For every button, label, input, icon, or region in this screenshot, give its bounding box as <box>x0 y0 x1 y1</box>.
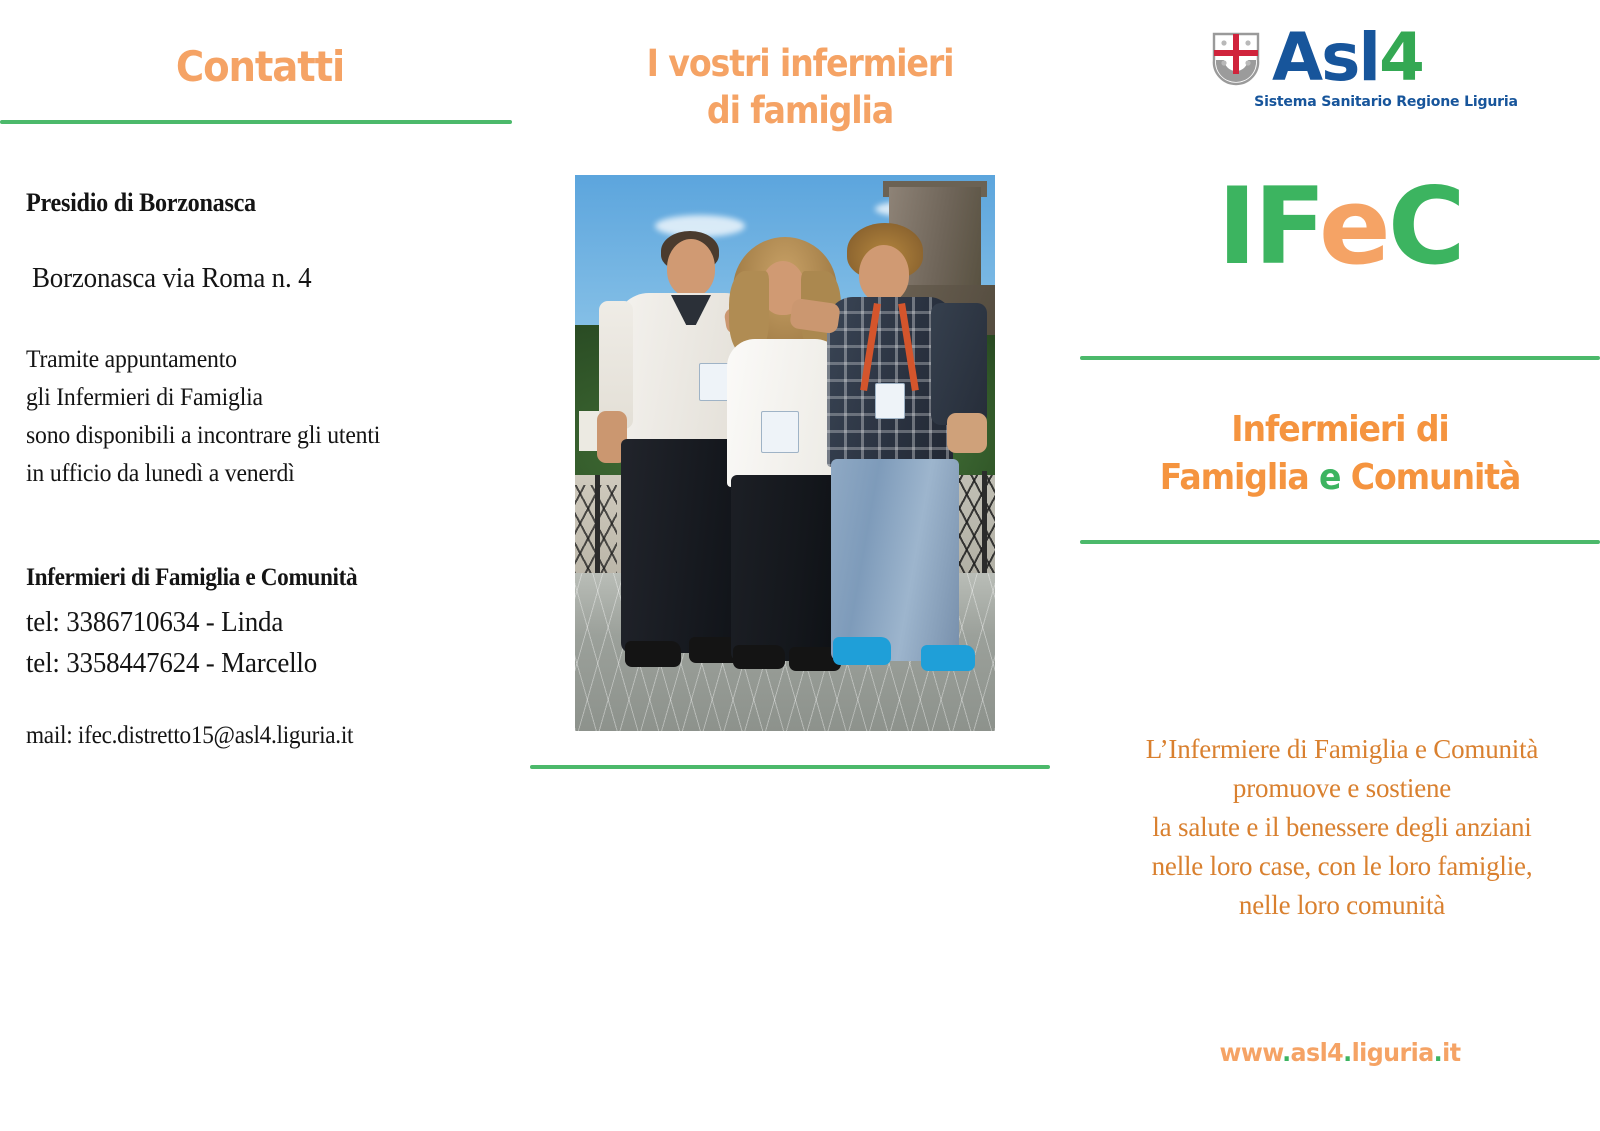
blue-sneaker <box>921 645 975 671</box>
hand <box>947 413 987 453</box>
description-line: nelle loro case, con le loro famiglie, <box>1088 847 1596 886</box>
right-divider-bottom <box>1080 540 1600 544</box>
blue-jeans <box>831 459 959 661</box>
ifec-subtitle: Infermieri diFamiglia e Comunità <box>1101 406 1579 502</box>
phone-linda[interactable]: tel: 3386710634 - Linda <box>26 602 317 643</box>
shoe <box>733 645 785 669</box>
website-url[interactable]: www.asl4.liguria.it <box>1093 1038 1587 1067</box>
logo-text-asl: Asl <box>1272 19 1379 96</box>
email-line[interactable]: mail: ifec.distretto15@asl4.liguria.it <box>26 722 353 750</box>
appointment-info: Tramite appuntamento gli Infermieri di F… <box>26 340 380 492</box>
ifec-subtitle-comunita: Comunità <box>1340 457 1520 498</box>
center-heading-line2: di famiglia <box>707 89 893 132</box>
ifec-e: e <box>1319 165 1388 288</box>
ifec-subtitle-e: e <box>1319 457 1340 498</box>
ifec-subtitle-famiglia: Famiglia <box>1160 457 1319 498</box>
asl4-wordmark: Asl4 <box>1272 22 1423 94</box>
contacts-column: Contatti Presidio di Borzonasca Borzonas… <box>0 0 520 1131</box>
url-it: it <box>1442 1038 1460 1067</box>
description-line: promuove e sostiene <box>1088 769 1596 808</box>
presidio-label: Presidio di Borzonasca <box>26 188 256 218</box>
logo-tagline: Sistema Sanitario Regione Liguria <box>1215 94 1556 110</box>
url-dot: . <box>1434 1038 1442 1067</box>
head <box>859 245 909 303</box>
url-dot: . <box>1282 1038 1290 1067</box>
description-line: la salute e il benessere degli anziani <box>1088 808 1596 847</box>
ifec-if: IF <box>1217 165 1319 288</box>
ifec-c: C <box>1388 165 1463 288</box>
center-heading: I vostri infermieri di famiglia <box>548 40 1052 134</box>
appointment-line: in ufficio da lunedì a venerdì <box>26 454 380 492</box>
logo-text-4: 4 <box>1379 19 1423 96</box>
contact-section-title: Infermieri di Famiglia e Comunità <box>26 564 357 592</box>
arm <box>599 301 633 429</box>
photo-column: I vostri infermieri di famiglia <box>520 0 1080 1131</box>
arm-over-shoulder <box>789 298 841 334</box>
center-divider <box>530 765 1050 769</box>
ifec-title: IFeC <box>1080 168 1600 286</box>
team-photo <box>575 175 995 731</box>
right-divider-top <box>1080 356 1600 360</box>
phone-marcello[interactable]: tel: 3358447624 - Marcello <box>26 643 317 684</box>
contacts-divider <box>0 120 512 124</box>
appointment-line: gli Infermieri di Famiglia <box>26 378 380 416</box>
arm <box>931 303 987 425</box>
branding-column: Asl4 Sistema Sanitario Regione Liguria I… <box>1080 0 1600 1131</box>
url-www: www <box>1219 1038 1282 1067</box>
url-liguria: liguria <box>1352 1038 1434 1067</box>
address-line: Borzonasca via Roma n. 4 <box>32 262 311 295</box>
appointment-line: Tramite appuntamento <box>26 340 380 378</box>
phone-list: tel: 3386710634 - Linda tel: 3358447624 … <box>26 602 317 684</box>
url-asl4: asl4 <box>1291 1038 1344 1067</box>
blue-sneaker <box>833 637 891 665</box>
description-line: nelle loro comunità <box>1088 886 1596 925</box>
head <box>667 239 715 297</box>
appointment-line: sono disponibili a incontrare gli utenti <box>26 416 380 454</box>
center-heading-line1: I vostri infermieri <box>647 42 954 85</box>
id-badge <box>761 411 799 453</box>
url-dot: . <box>1343 1038 1351 1067</box>
shoe <box>625 641 681 667</box>
asl4-logo: Asl4 Sistema Sanitario Regione Liguria <box>1210 26 1570 116</box>
contacts-heading: Contatti <box>21 42 499 91</box>
dark-trousers <box>731 475 843 661</box>
liguria-shield-icon <box>1210 30 1262 88</box>
id-badge <box>875 383 905 419</box>
ifec-description: L’Infermiere di Famiglia e Comunità prom… <box>1088 730 1596 925</box>
ifec-subtitle-line1: Infermieri di <box>1231 409 1448 450</box>
description-line: L’Infermiere di Famiglia e Comunità <box>1088 730 1596 769</box>
